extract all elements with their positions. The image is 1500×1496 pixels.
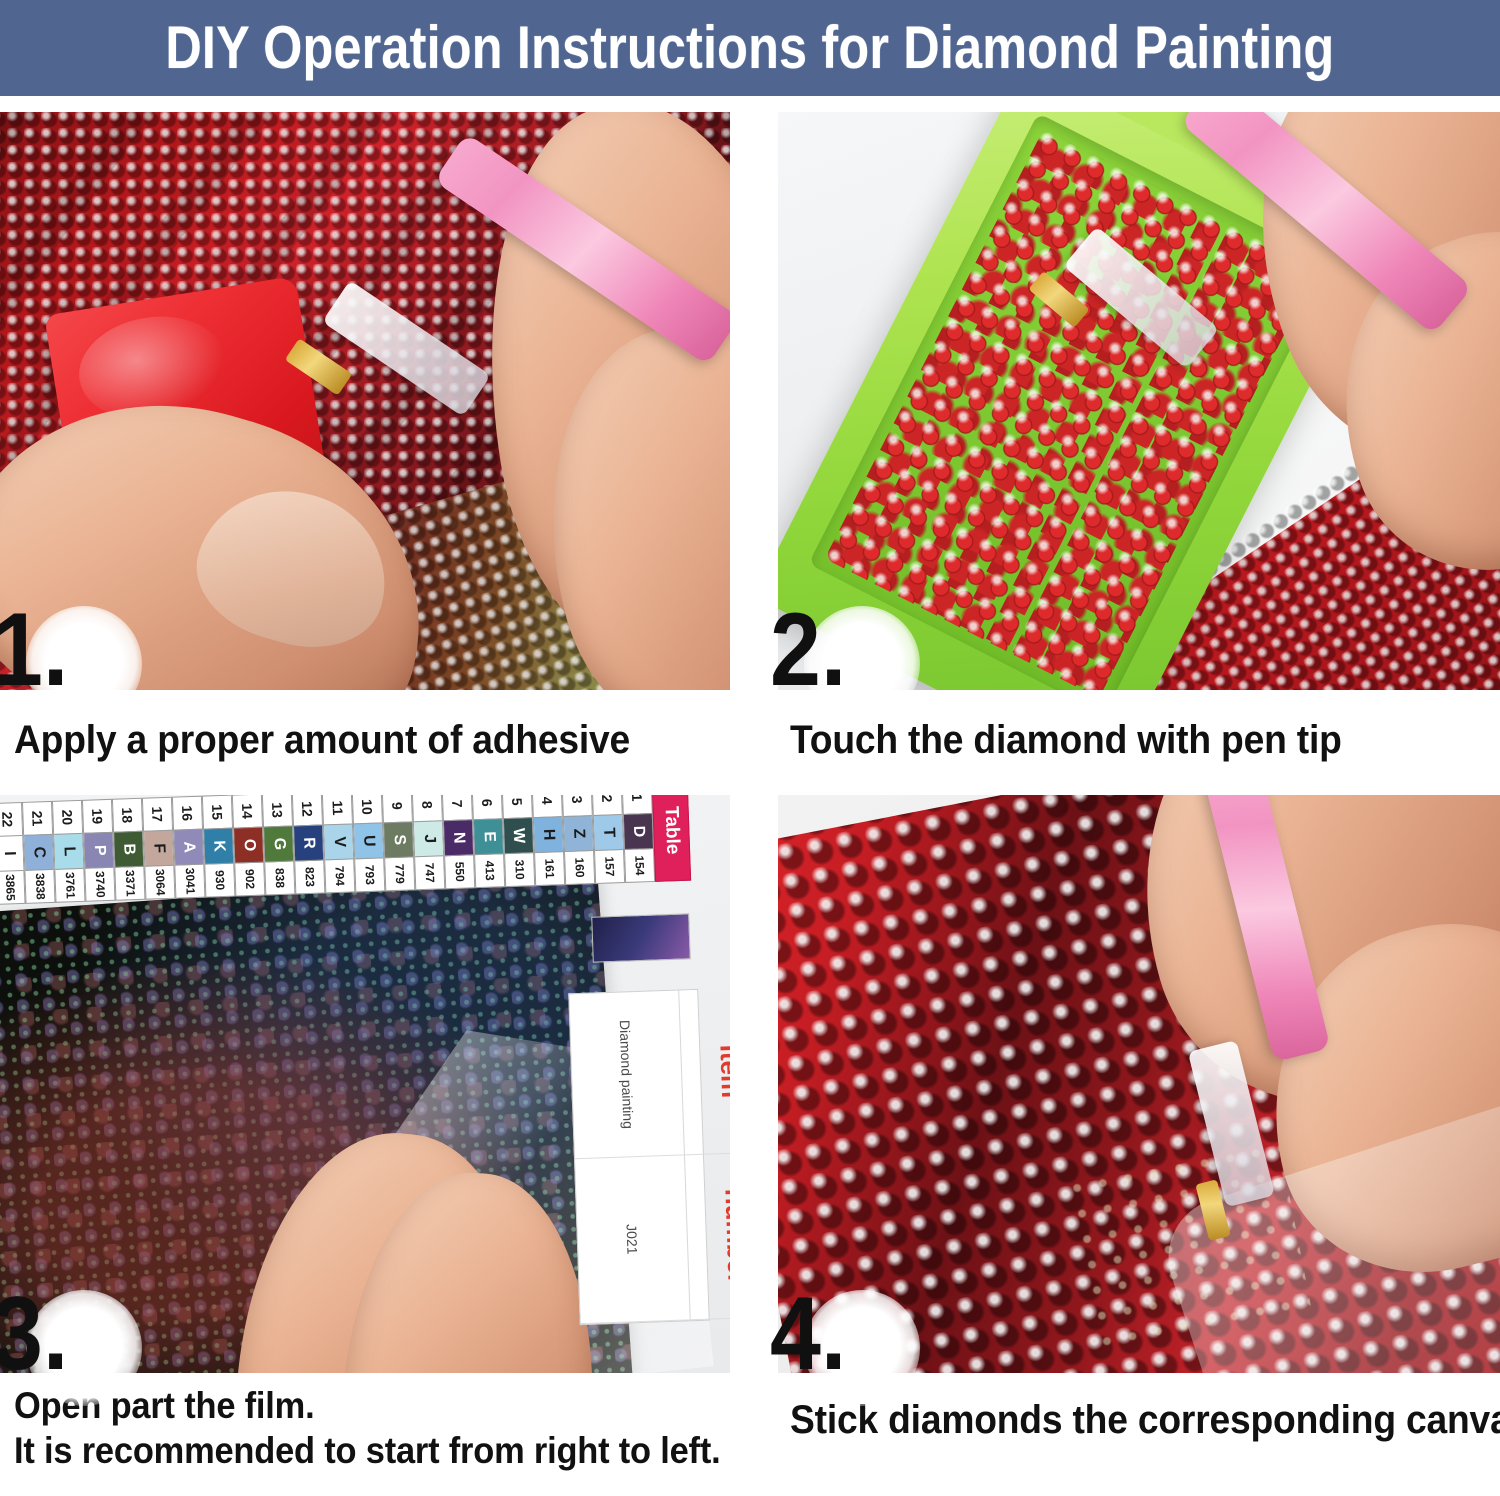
step-1-photo bbox=[0, 112, 730, 690]
colour-code-symbol: B bbox=[114, 831, 143, 868]
colour-code-dmc: 550 bbox=[445, 855, 474, 888]
colour-code-row: 13G838 bbox=[262, 795, 296, 896]
colour-code-dmc: 3371 bbox=[115, 867, 144, 900]
colour-code-number: 11 bbox=[323, 795, 352, 824]
page-title: DIY Operation Instructions for Diamond P… bbox=[165, 18, 1334, 78]
colour-table-header-label: Table bbox=[660, 806, 684, 855]
instruction-sheet: DIY Operation Instructions for Diamond P… bbox=[0, 0, 1500, 1496]
colour-code-number: 20 bbox=[53, 801, 82, 834]
colour-code-number: 14 bbox=[233, 795, 262, 828]
colour-code-table: Table 1D1542T1573Z1604H1615W3106E4137N55… bbox=[0, 803, 730, 923]
colour-code-dmc: 794 bbox=[325, 859, 354, 892]
item-value: Diamond painting bbox=[617, 1020, 637, 1129]
colour-code-row: 12R823 bbox=[292, 795, 326, 894]
colour-code-dmc: 747 bbox=[415, 856, 444, 889]
colour-code-dmc: 3740 bbox=[85, 868, 114, 901]
pink-diamond-pen bbox=[300, 148, 730, 508]
colour-code-number: 1 bbox=[623, 795, 652, 814]
colour-code-number: 18 bbox=[113, 799, 142, 832]
colour-code-row: 9S779 bbox=[382, 795, 416, 891]
colour-code-symbol: J bbox=[414, 820, 443, 857]
step-1-caption: Apply a proper amount of adhesive bbox=[14, 716, 730, 765]
colour-code-dmc: 823 bbox=[295, 860, 324, 893]
item-heading-cell: Item bbox=[679, 987, 730, 1155]
colour-code-row: 10U793 bbox=[352, 795, 386, 892]
number-heading: number bbox=[718, 1187, 730, 1283]
colour-code-dmc: 3041 bbox=[175, 865, 204, 898]
colour-code-symbol: P bbox=[84, 832, 113, 869]
header-banner: DIY Operation Instructions for Diamond P… bbox=[0, 0, 1500, 96]
colour-code-dmc: 779 bbox=[385, 857, 414, 890]
caption-line: Touch the diamond with pen tip bbox=[790, 716, 1441, 765]
colour-code-row: 18B3371 bbox=[112, 798, 146, 901]
colour-code-row: 4H161 bbox=[532, 795, 566, 886]
colour-code-row: 5W310 bbox=[502, 795, 536, 887]
colour-code-symbol: S bbox=[384, 821, 413, 858]
colour-code-dmc: 838 bbox=[265, 862, 294, 895]
step-4-photo bbox=[778, 795, 1500, 1373]
item-number-label: Diamond painting J021 Item number bbox=[568, 989, 710, 1325]
colour-code-dmc: 310 bbox=[505, 853, 534, 886]
caption-line: It is recommended to start from right to… bbox=[14, 1428, 680, 1473]
colour-code-number: 16 bbox=[173, 797, 202, 830]
colour-code-row: 16A3041 bbox=[172, 796, 206, 899]
colour-code-row: 11V794 bbox=[322, 795, 356, 893]
colour-code-number: 2 bbox=[593, 795, 622, 815]
caption-line: Apply a proper amount of adhesive bbox=[14, 716, 680, 765]
colour-code-number: 7 bbox=[443, 795, 472, 820]
item-heading: Item bbox=[713, 1044, 730, 1099]
colour-code-symbol: W bbox=[504, 817, 533, 854]
colour-code-dmc: 413 bbox=[475, 854, 504, 887]
colour-code-row: 15K930 bbox=[202, 795, 236, 898]
step-2-photo bbox=[778, 112, 1500, 690]
colour-code-dmc: 3838 bbox=[25, 870, 54, 903]
pink-diamond-pen bbox=[1134, 795, 1500, 1205]
step-3-photo: Table 1D1542T1573Z1604H1615W3106E4137N55… bbox=[0, 795, 730, 1373]
colour-code-row: 3Z160 bbox=[562, 795, 596, 885]
pen-barrel bbox=[434, 133, 730, 366]
colour-code-row: 14O902 bbox=[232, 795, 266, 897]
colour-code-number: 12 bbox=[293, 795, 322, 825]
colour-code-number: 19 bbox=[83, 800, 112, 833]
item-value-cell: Diamond painting bbox=[569, 991, 684, 1160]
colour-code-dmc: 930 bbox=[205, 864, 234, 897]
colour-code-row: 17F3064 bbox=[142, 797, 176, 900]
colour-code-symbol: I bbox=[0, 835, 23, 872]
colour-code-symbol: C bbox=[24, 834, 53, 871]
colour-code-number: 8 bbox=[413, 795, 442, 821]
colour-code-dmc: 3865 bbox=[0, 871, 25, 904]
colour-code-number: 13 bbox=[263, 795, 292, 827]
pen-ferrule bbox=[1063, 226, 1219, 369]
colour-code-dmc: 3064 bbox=[145, 866, 174, 899]
number-value: J021 bbox=[624, 1224, 641, 1255]
colour-code-row: 7N550 bbox=[442, 795, 476, 889]
colour-code-symbol: U bbox=[354, 822, 383, 859]
colour-code-dmc: 3761 bbox=[55, 869, 84, 902]
colour-code-symbol: G bbox=[264, 826, 293, 863]
colour-code-number: 15 bbox=[203, 796, 232, 829]
colour-code-row: 1D154 bbox=[622, 795, 656, 883]
number-heading-cell: number bbox=[685, 1152, 730, 1320]
colour-code-number: 22 bbox=[0, 803, 22, 836]
colour-code-row: 21C3838 bbox=[22, 801, 56, 904]
colour-code-symbol: N bbox=[444, 819, 473, 856]
colour-code-dmc: 902 bbox=[235, 863, 264, 896]
colour-code-row: 6E413 bbox=[472, 795, 506, 888]
colour-code-dmc: 157 bbox=[595, 850, 624, 883]
colour-code-symbol: H bbox=[534, 816, 563, 853]
colour-code-number: 4 bbox=[533, 795, 562, 817]
colour-code-symbol: T bbox=[594, 814, 623, 851]
colour-code-symbol: R bbox=[294, 824, 323, 861]
colour-code-number: 9 bbox=[383, 795, 412, 822]
colour-code-number: 5 bbox=[503, 795, 532, 818]
pen-ferrule bbox=[322, 280, 491, 417]
colour-code-number: 6 bbox=[473, 795, 502, 819]
colour-code-row: 2T157 bbox=[592, 795, 626, 884]
pen-barrel bbox=[1180, 112, 1473, 335]
step-4-caption: Stick diamonds the corresponding canvas bbox=[790, 1396, 1490, 1445]
step-3-caption: Open part the film. It is recommended to… bbox=[14, 1383, 730, 1473]
colour-code-number: 3 bbox=[563, 795, 592, 816]
colour-code-symbol: Z bbox=[564, 815, 593, 852]
caption-line: Open part the film. bbox=[14, 1383, 680, 1428]
item-label-values-column: Diamond painting J021 bbox=[569, 990, 690, 1324]
colour-code-dmc: 154 bbox=[625, 849, 654, 882]
colour-code-symbol: F bbox=[144, 830, 173, 867]
pen-barrel bbox=[1202, 795, 1331, 1062]
colour-code-symbol: O bbox=[234, 827, 263, 864]
colour-code-dmc: 161 bbox=[535, 852, 564, 885]
colour-code-number: 21 bbox=[23, 802, 52, 835]
colour-code-row: 20L3761 bbox=[52, 800, 86, 903]
colour-code-symbol: L bbox=[54, 833, 83, 870]
colour-code-row: 8J747 bbox=[412, 795, 446, 890]
colour-code-table-cells: Table 1D1542T1573Z1604H1615W3106E4137N55… bbox=[0, 795, 691, 905]
colour-code-row: 19P3740 bbox=[82, 799, 116, 902]
colour-code-symbol: K bbox=[204, 828, 233, 865]
colour-code-symbol: E bbox=[474, 818, 503, 855]
colour-code-symbol: A bbox=[174, 829, 203, 866]
caption-line: Stick diamonds the corresponding canvas bbox=[790, 1396, 1441, 1445]
number-value-cell: J021 bbox=[575, 1155, 690, 1324]
step-2-caption: Touch the diamond with pen tip bbox=[790, 716, 1490, 765]
colour-code-symbol: V bbox=[324, 823, 353, 860]
colour-code-symbol: D bbox=[624, 813, 653, 850]
colour-code-dmc: 160 bbox=[565, 851, 594, 884]
colour-code-number: 17 bbox=[143, 798, 172, 831]
pink-diamond-pen bbox=[1024, 112, 1494, 546]
colour-code-number: 10 bbox=[353, 795, 382, 823]
colour-code-dmc: 793 bbox=[355, 858, 384, 891]
colour-table-header: Table bbox=[652, 795, 692, 882]
